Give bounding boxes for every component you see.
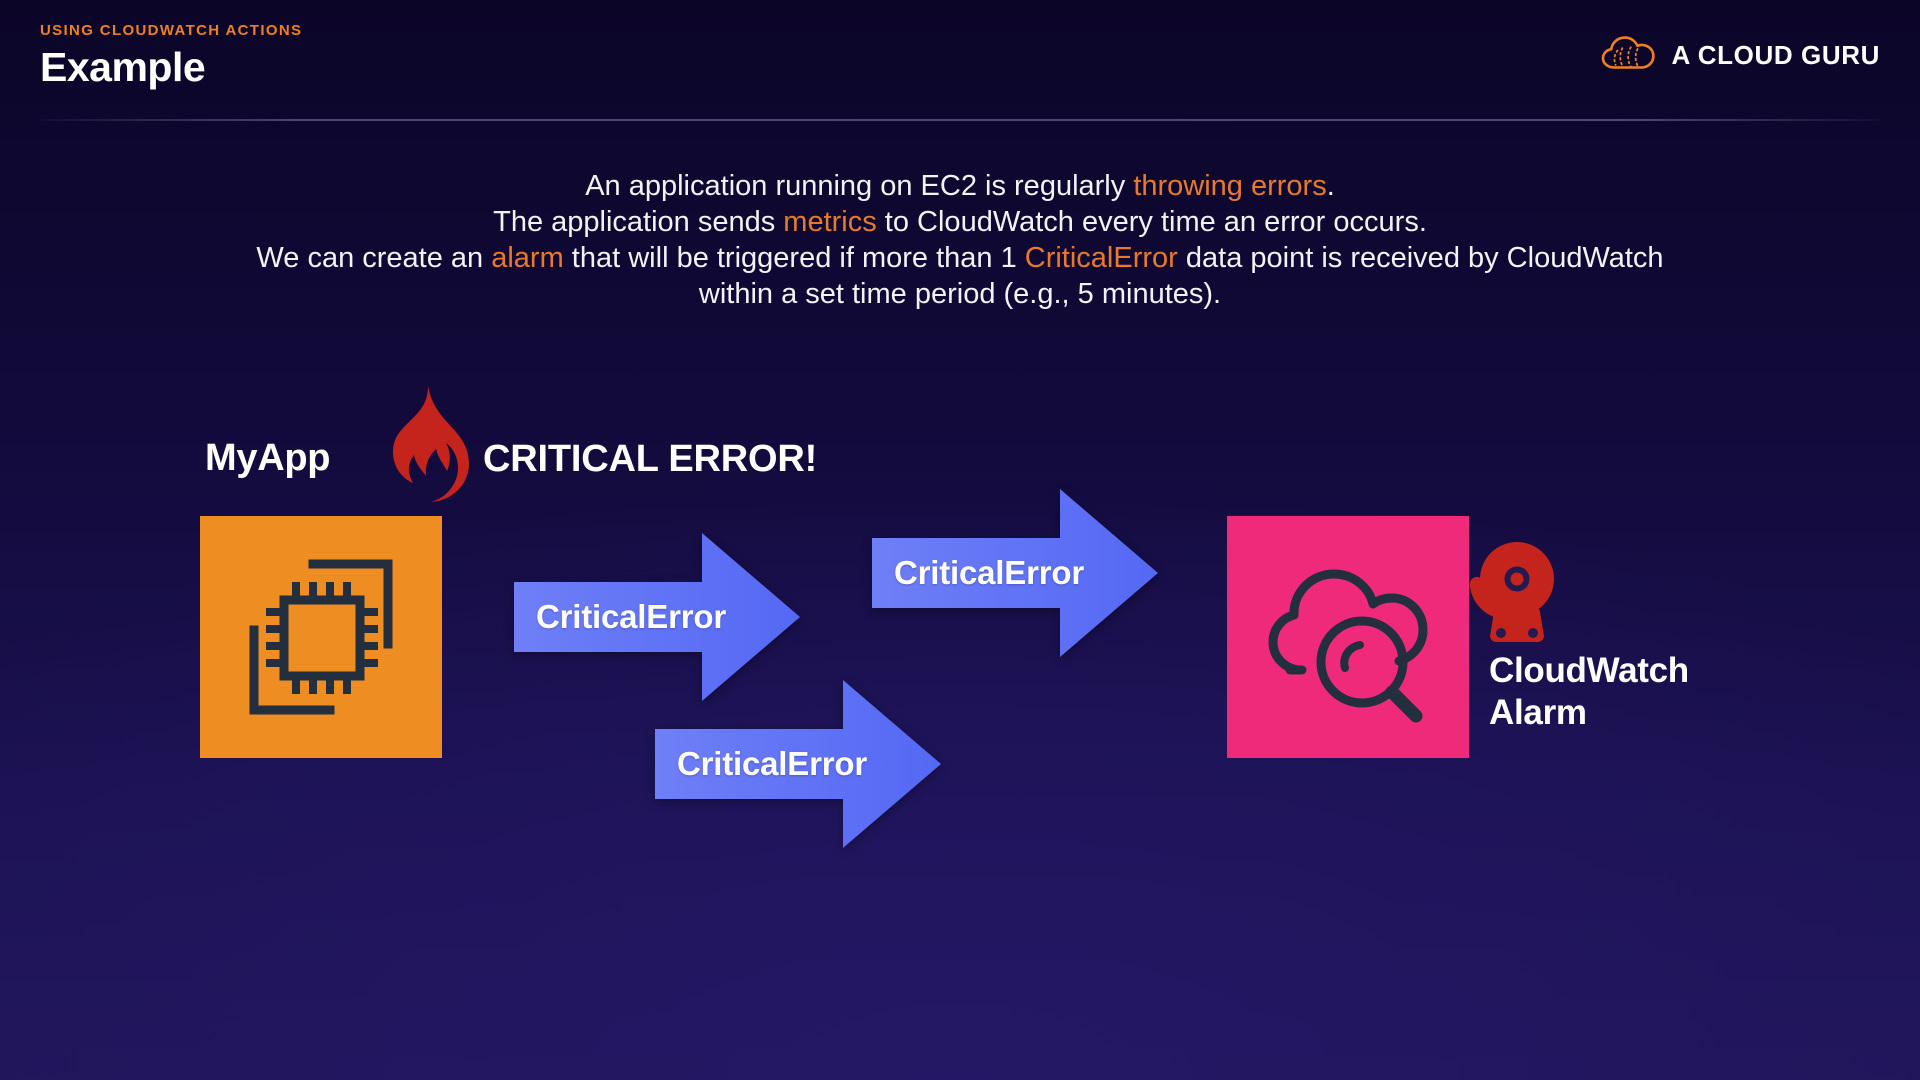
arrow-criticalerror-1: CriticalError: [514, 533, 800, 701]
cloudwatch-alarm-label-line2: Alarm: [1489, 692, 1689, 734]
arrow-label-2: CriticalError: [872, 489, 1158, 657]
ec2-instance-tile: [200, 516, 442, 758]
flame-icon: [381, 386, 469, 504]
arrow-label-3: CriticalError: [655, 680, 941, 848]
myapp-label: MyApp: [205, 437, 330, 480]
cloudwatch-cloud-magnifier-icon: [1227, 516, 1469, 758]
cloudwatch-alarm-label: CloudWatch Alarm: [1489, 650, 1689, 734]
critical-error-banner: CRITICAL ERROR!: [483, 438, 817, 481]
cloudwatch-tile: [1227, 516, 1469, 758]
arrow-label-1: CriticalError: [514, 533, 800, 701]
diagram-stage: MyApp CRITICAL ERROR!: [0, 0, 1920, 1080]
alarm-bell-icon: [1468, 538, 1560, 650]
arrow-criticalerror-3: CriticalError: [655, 680, 941, 848]
ec2-instance-icon: [200, 516, 442, 758]
cloudwatch-alarm-label-line1: CloudWatch: [1489, 650, 1689, 692]
arrow-criticalerror-2: CriticalError: [872, 489, 1158, 657]
